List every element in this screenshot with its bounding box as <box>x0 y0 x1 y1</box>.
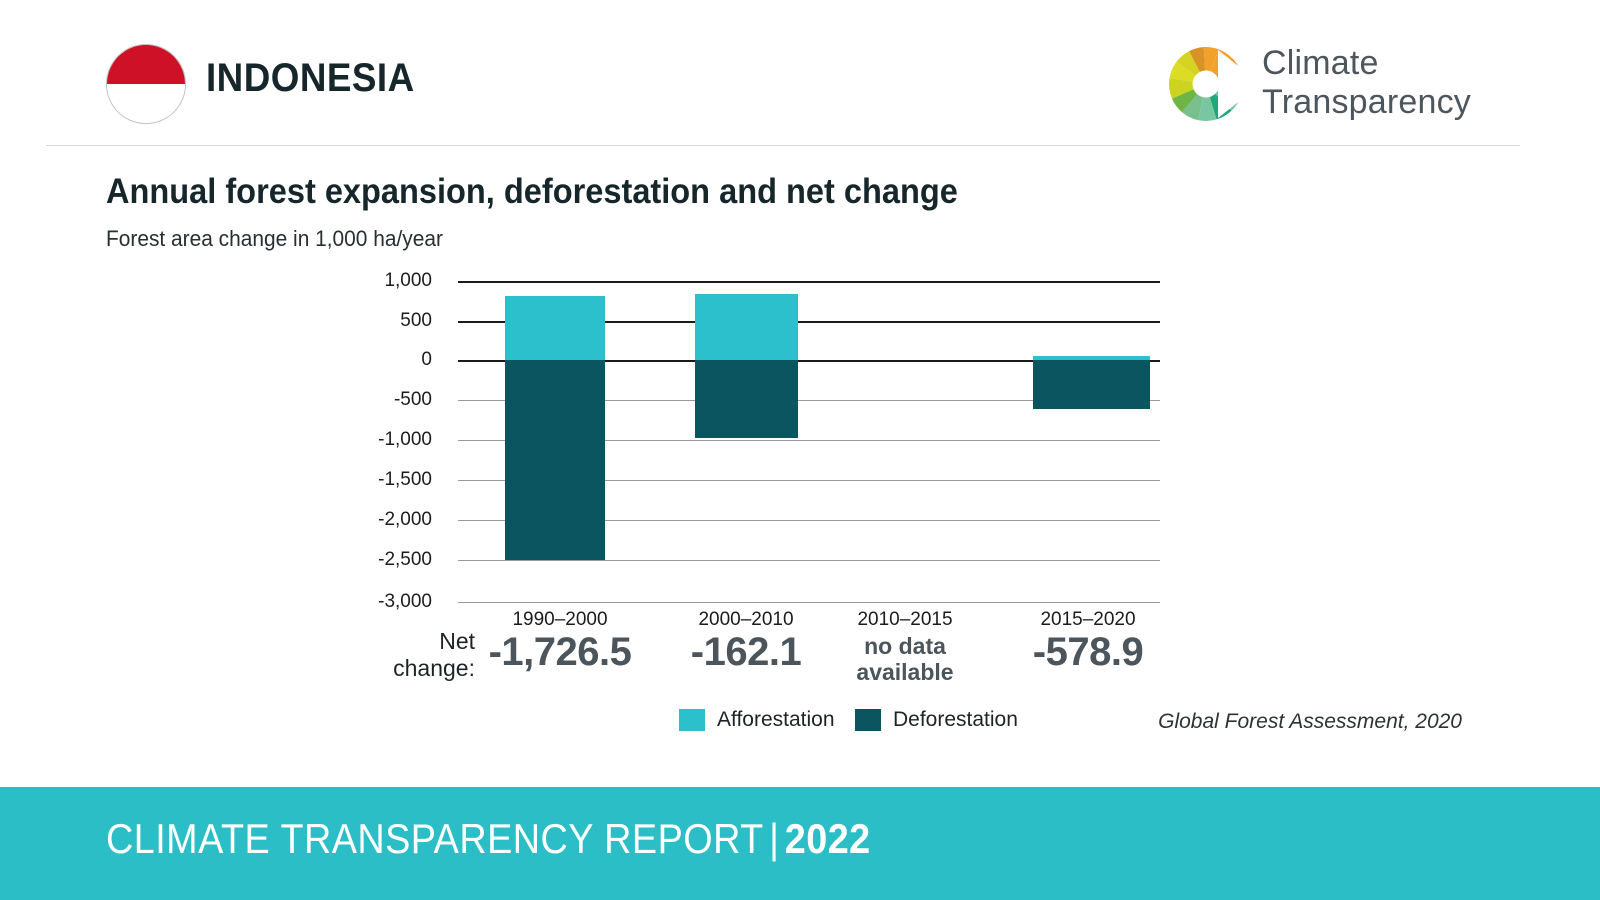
bar-group-1990-2000[interactable] <box>505 296 605 560</box>
bar-afforestation-2000-2010[interactable] <box>695 294 798 360</box>
legend-label-afforestation: Afforestation <box>717 708 835 732</box>
legend-item-afforestation[interactable]: Afforestation <box>679 708 835 732</box>
gridline-neg2500 <box>458 560 1160 561</box>
bar-afforestation-1990-2000[interactable] <box>505 296 605 360</box>
xaxis-label-2015-2020: 2015–2020 <box>1008 609 1168 631</box>
country-title: INDONESIA <box>206 56 415 101</box>
gridline-neg3000 <box>458 602 1160 603</box>
net-change-value-2010-2015: no data available <box>825 633 985 685</box>
xaxis-label-2010-2015: 2010–2015 <box>825 609 985 631</box>
legend-swatch-deforestation-icon <box>855 709 881 731</box>
ytick-0: 0 <box>292 349 432 371</box>
report-page: INDONESIA <box>0 0 1600 900</box>
logo-text-line2: Transparency <box>1262 83 1471 122</box>
logo-text-line1: Climate <box>1262 44 1471 83</box>
bar-deforestation-2000-2010[interactable] <box>695 360 798 438</box>
net-change-value-1990-2000: -1,726.5 <box>470 630 650 675</box>
nodata-line1: no data <box>864 633 946 659</box>
net-change-value-2000-2010: -162.1 <box>656 630 836 675</box>
gridline-1000 <box>458 281 1160 283</box>
flag-white-band <box>107 84 185 123</box>
climate-transparency-logo-icon <box>1158 36 1254 132</box>
chart-source-note: Global Forest Assessment, 2020 <box>1158 710 1462 734</box>
header-divider <box>46 145 1520 146</box>
legend-swatch-afforestation-icon <box>679 709 705 731</box>
net-change-label-line2: change: <box>393 655 475 681</box>
chart-plot-area <box>458 281 1160 603</box>
xaxis-label-1990-2000: 1990–2000 <box>480 609 640 631</box>
footer-year: 2022 <box>785 815 871 862</box>
ytick-neg1500: -1,500 <box>292 469 432 491</box>
footer-separator: | <box>764 815 785 862</box>
ytick-neg3000: -3,000 <box>292 591 432 613</box>
footer-title: CLIMATE TRANSPARENCY REPORT|2022 <box>106 815 871 863</box>
bar-group-2000-2010[interactable] <box>695 294 798 438</box>
ytick-neg2500: -2,500 <box>292 549 432 571</box>
ytick-neg1000: -1,000 <box>292 429 432 451</box>
nodata-line2: available <box>856 659 953 685</box>
bar-group-2015-2020[interactable] <box>1033 356 1150 409</box>
page-header: INDONESIA <box>0 0 1600 146</box>
footer-title-main: CLIMATE TRANSPARENCY REPORT <box>106 815 764 862</box>
logo-wordmark: Climate Transparency <box>1262 44 1471 122</box>
legend-item-deforestation[interactable]: Deforestation <box>855 708 1018 732</box>
chart-subtitle: Forest area change in 1,000 ha/year <box>106 226 443 252</box>
ytick-1000: 1,000 <box>292 270 432 292</box>
page-footer: CLIMATE TRANSPARENCY REPORT|2022 <box>0 787 1600 900</box>
indonesia-flag-icon <box>106 44 186 124</box>
ytick-500: 500 <box>292 310 432 332</box>
legend-label-deforestation: Deforestation <box>893 708 1018 732</box>
ytick-neg2000: -2,000 <box>292 509 432 531</box>
net-change-value-2015-2020: -578.9 <box>998 630 1178 675</box>
flag-red-band <box>107 45 185 84</box>
ytick-neg500: -500 <box>292 389 432 411</box>
xaxis-label-2000-2010: 2000–2010 <box>666 609 826 631</box>
bar-deforestation-2015-2020[interactable] <box>1033 360 1150 409</box>
net-change-label: Net change: <box>330 628 475 682</box>
bar-deforestation-1990-2000[interactable] <box>505 360 605 560</box>
chart-title: Annual forest expansion, deforestation a… <box>106 172 958 212</box>
